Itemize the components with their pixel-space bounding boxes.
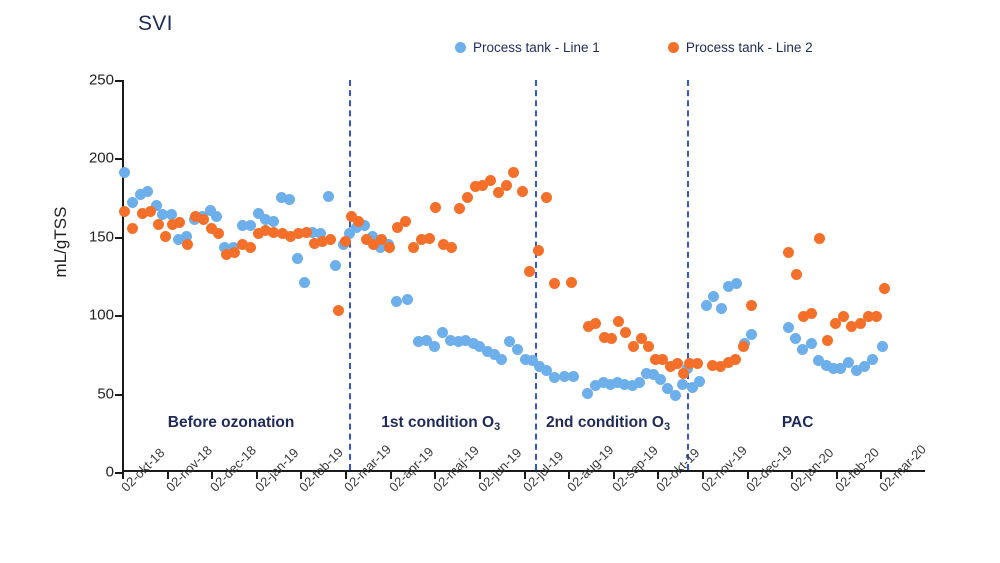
phase-label: 2nd condition O3: [546, 414, 670, 432]
phase-divider-line: [349, 80, 351, 470]
data-point-series-1: [549, 372, 560, 383]
data-point-series-1: [323, 191, 334, 202]
data-point-series-1: [284, 194, 295, 205]
plot-area: Before ozonation1st condition O32nd cond…: [122, 80, 925, 472]
data-point-series-1: [867, 354, 878, 365]
data-point-series-1: [330, 260, 341, 271]
data-point-series-2: [424, 233, 435, 244]
y-axis-tick-label: 0: [106, 464, 114, 481]
data-point-series-1: [783, 322, 794, 333]
y-axis-tick-mark: [115, 472, 122, 474]
data-point-series-2: [606, 333, 617, 344]
data-point-series-1: [634, 377, 645, 388]
phase-label: PAC: [782, 414, 814, 432]
data-point-series-2: [730, 354, 741, 365]
phase-label: Before ozonation: [168, 414, 295, 432]
legend-marker-icon: [455, 42, 466, 53]
data-point-series-1: [708, 291, 719, 302]
data-point-series-2: [791, 269, 802, 280]
data-point-series-2: [119, 206, 130, 217]
data-point-series-1: [716, 303, 727, 314]
data-point-series-2: [692, 358, 703, 369]
data-point-series-2: [541, 192, 552, 203]
data-point-series-2: [871, 311, 882, 322]
data-point-series-2: [145, 206, 156, 217]
page-title: SVI: [138, 12, 173, 36]
data-point-series-1: [694, 376, 705, 387]
y-axis-tick-label: 100: [89, 307, 114, 324]
data-point-series-2: [353, 216, 364, 227]
legend-entry-2[interactable]: Process tank - Line 2: [668, 40, 813, 55]
data-point-series-1: [119, 167, 130, 178]
data-point-series-2: [400, 216, 411, 227]
data-point-series-1: [299, 277, 310, 288]
data-point-series-1: [292, 253, 303, 264]
data-point-series-2: [838, 311, 849, 322]
data-point-series-1: [211, 211, 222, 222]
data-point-series-2: [549, 278, 560, 289]
data-point-series-2: [517, 186, 528, 197]
legend-label: Process tank - Line 2: [686, 40, 813, 55]
data-point-series-2: [822, 335, 833, 346]
y-axis-tick-label: 50: [97, 385, 114, 402]
data-point-series-2: [738, 341, 749, 352]
data-point-series-2: [501, 180, 512, 191]
y-axis-tick-mark: [115, 237, 122, 239]
data-point-series-2: [301, 227, 312, 238]
data-point-series-2: [508, 167, 519, 178]
data-point-series-2: [153, 219, 164, 230]
data-point-series-2: [533, 245, 544, 256]
y-axis-title: mL/gTSS: [51, 177, 71, 307]
y-axis-tick-label: 150: [89, 228, 114, 245]
data-point-series-2: [454, 203, 465, 214]
data-point-series-1: [512, 344, 523, 355]
y-axis-tick-labels: 050100150200250: [72, 80, 114, 472]
data-point-series-2: [462, 192, 473, 203]
data-point-series-2: [182, 239, 193, 250]
data-point-series-2: [524, 266, 535, 277]
y-axis-tick-label: 250: [89, 72, 114, 89]
data-point-series-2: [746, 300, 757, 311]
data-point-series-2: [245, 242, 256, 253]
data-point-series-1: [790, 333, 801, 344]
phase-divider-line: [687, 80, 689, 470]
data-point-series-1: [142, 186, 153, 197]
chart-legend: Process tank - Line 1Process tank - Line…: [455, 40, 813, 55]
chart-root: SVI Process tank - Line 1Process tank - …: [0, 0, 1000, 563]
legend-label: Process tank - Line 1: [473, 40, 600, 55]
data-point-series-1: [429, 341, 440, 352]
y-axis-tick-label: 200: [89, 150, 114, 167]
data-point-series-2: [613, 316, 624, 327]
data-point-series-2: [446, 242, 457, 253]
data-point-series-1: [877, 341, 888, 352]
data-point-series-1: [670, 390, 681, 401]
data-point-series-1: [731, 278, 742, 289]
data-point-series-2: [814, 233, 825, 244]
data-point-series-2: [566, 277, 577, 288]
data-point-series-2: [879, 283, 890, 294]
data-point-series-2: [806, 308, 817, 319]
data-point-series-2: [127, 223, 138, 234]
data-point-series-1: [746, 329, 757, 340]
data-point-series-1: [806, 338, 817, 349]
data-point-series-1: [568, 371, 579, 382]
y-axis-tick-mark: [115, 315, 122, 317]
data-point-series-2: [213, 228, 224, 239]
data-point-series-2: [643, 341, 654, 352]
data-point-series-2: [174, 217, 185, 228]
y-axis-tick-mark: [115, 158, 122, 160]
legend-marker-icon: [668, 42, 679, 53]
phase-divider-line: [535, 80, 537, 470]
data-point-series-2: [384, 242, 395, 253]
data-point-series-1: [701, 300, 712, 311]
phase-label: 1st condition O3: [381, 414, 500, 432]
data-point-series-1: [402, 294, 413, 305]
data-point-series-2: [430, 202, 441, 213]
data-point-series-2: [590, 318, 601, 329]
data-point-series-1: [268, 216, 279, 227]
data-point-series-2: [325, 234, 336, 245]
data-point-series-2: [333, 305, 344, 316]
data-point-series-1: [496, 354, 507, 365]
data-point-series-2: [160, 231, 171, 242]
data-point-series-2: [620, 327, 631, 338]
data-point-series-2: [678, 368, 689, 379]
legend-entry-1[interactable]: Process tank - Line 1: [455, 40, 600, 55]
data-point-series-1: [391, 296, 402, 307]
y-axis-tick-mark: [115, 394, 122, 396]
data-point-series-2: [340, 236, 351, 247]
data-point-series-2: [783, 247, 794, 258]
y-axis-tick-mark: [115, 80, 122, 82]
data-point-series-2: [485, 175, 496, 186]
